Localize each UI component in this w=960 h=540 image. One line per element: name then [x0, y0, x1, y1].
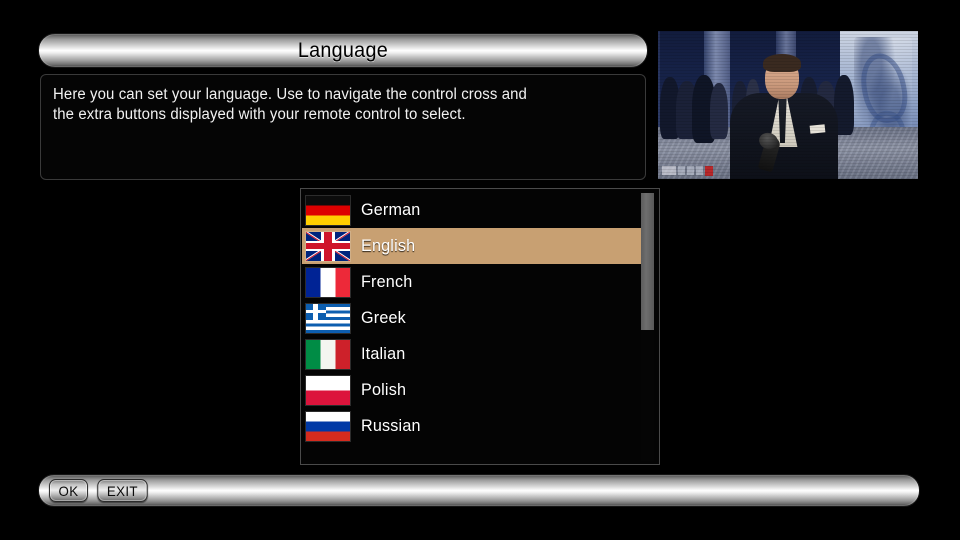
logo-block	[687, 166, 694, 175]
logo-block	[662, 166, 676, 175]
ok-button[interactable]: OK	[49, 479, 88, 502]
language-list-box[interactable]: German English French Greek	[300, 188, 660, 465]
list-item[interactable]: Italian	[302, 336, 642, 372]
video-reporter-hair	[763, 54, 801, 72]
help-text: Here you can set your language. Use to n…	[53, 85, 613, 124]
softkey-bar: OK EXIT	[38, 474, 920, 507]
video-reporter-pocket-square	[810, 124, 826, 134]
flag-germany-icon	[306, 196, 350, 225]
scrollbar-track[interactable]	[641, 193, 654, 461]
list-item[interactable]: French	[302, 264, 642, 300]
video-crowd-figure	[710, 83, 728, 139]
list-item[interactable]: Russian	[302, 408, 642, 444]
list-item-label: Russian	[361, 416, 421, 436]
list-item[interactable]: Polish	[302, 372, 642, 408]
flag-united-kingdom-icon	[306, 232, 350, 261]
broadcaster-logo-watermark	[662, 165, 713, 176]
help-text-panel: Here you can set your language. Use to n…	[40, 74, 646, 180]
language-list: German English French Greek	[302, 192, 642, 444]
flag-italy-icon	[306, 340, 350, 369]
list-item-label: German	[361, 200, 420, 220]
list-item-label: Polish	[361, 380, 406, 400]
page-title: Language	[298, 39, 388, 63]
list-item[interactable]: Greek	[302, 300, 642, 336]
list-item-label: Italian	[361, 344, 405, 364]
list-item[interactable]: English	[302, 228, 642, 264]
scrollbar-thumb[interactable]	[641, 193, 654, 330]
exit-button[interactable]: EXIT	[97, 479, 147, 502]
flag-poland-icon	[306, 376, 350, 405]
logo-block	[678, 166, 685, 175]
tv-settings-screen: Language Here you can set your language.…	[0, 0, 960, 540]
flag-france-icon	[306, 268, 350, 297]
flag-russia-icon	[306, 412, 350, 441]
logo-block	[696, 166, 703, 175]
flag-greece-icon	[306, 304, 350, 333]
window-title-bar: Language	[38, 33, 648, 68]
list-item-label: French	[361, 272, 412, 292]
video-preview-pip[interactable]	[658, 31, 918, 179]
logo-accent-block	[705, 166, 713, 176]
list-item[interactable]: German	[302, 192, 642, 228]
list-item-label: Greek	[361, 308, 406, 328]
list-item-label: English	[361, 236, 415, 256]
